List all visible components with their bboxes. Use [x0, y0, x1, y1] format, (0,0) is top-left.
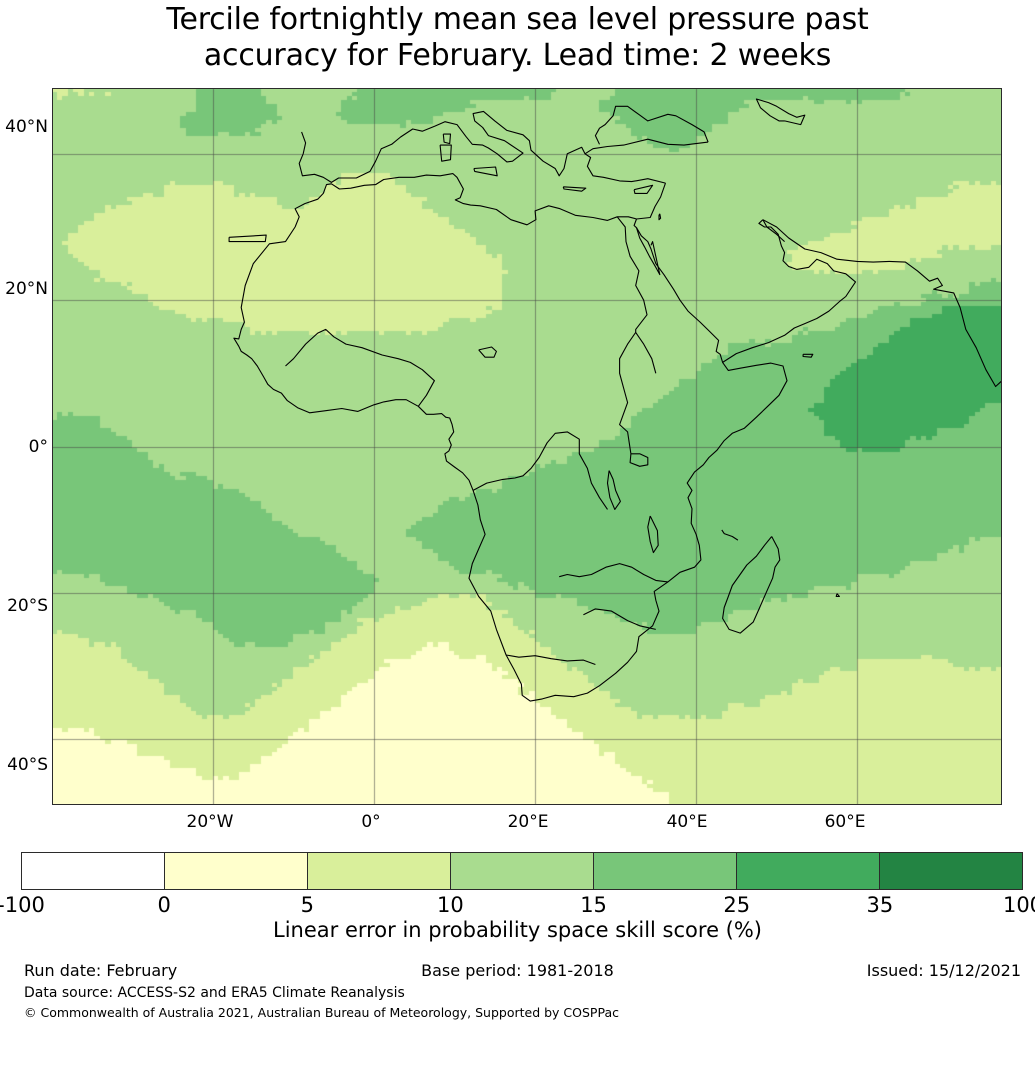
coastline — [229, 235, 266, 242]
coastline — [506, 655, 595, 665]
lat-tick-label: 40°N — [0, 117, 48, 137]
coastline — [295, 174, 665, 227]
lat-tick-label: 40°S — [0, 755, 48, 775]
colorbar-segment — [308, 853, 451, 889]
coastline — [722, 530, 738, 540]
coastline — [637, 228, 660, 275]
coastline — [583, 609, 655, 630]
coastline — [595, 106, 708, 144]
coastline — [473, 432, 607, 510]
coastline — [803, 354, 813, 357]
lat-tick-label: 20°S — [0, 596, 48, 616]
page-title: Tercile fortnightly mean sea level press… — [0, 2, 1035, 74]
colorbar-title: Linear error in probability space skill … — [0, 918, 1035, 942]
colorbar-tick-label: 5 — [301, 893, 314, 917]
map-overlay — [52, 88, 1002, 805]
footer-row-primary: Run date: February Base period: 1981-201… — [0, 961, 1035, 981]
coastline — [617, 217, 656, 373]
lon-tick-label: 60°E — [825, 812, 866, 832]
colorbar-tick-label: -100 — [0, 893, 45, 917]
colorbar-segment — [165, 853, 308, 889]
coastline — [836, 594, 839, 597]
colorbar-segment — [880, 853, 1022, 889]
lat-tick-label: 0° — [0, 437, 48, 457]
map-plot-area — [52, 88, 1002, 805]
coastline — [630, 454, 648, 467]
coastline — [723, 220, 856, 363]
coastline — [286, 329, 435, 406]
coastline — [474, 167, 497, 176]
coastline — [585, 154, 666, 183]
issued-date-label: Issued: 15/12/2021 — [867, 961, 1021, 980]
coastline — [479, 347, 497, 357]
colorbar-tick-label: 35 — [866, 893, 893, 917]
coastline — [608, 471, 621, 510]
colorbar-tick-label: 15 — [580, 893, 607, 917]
colorbar-tick-label: 100 — [1003, 893, 1035, 917]
colorbar-segment — [451, 853, 594, 889]
coastline — [563, 187, 586, 191]
coastline — [634, 185, 653, 193]
lon-tick-label: 20°W — [187, 812, 234, 832]
copyright-label: © Commonwealth of Australia 2021, Austra… — [24, 1005, 619, 1020]
coastline — [299, 111, 708, 182]
colorbar-segment — [737, 853, 880, 889]
coastline — [763, 220, 1002, 387]
title-line-2: accuracy for February. Lead time: 2 week… — [0, 38, 1035, 74]
title-line-1: Tercile fortnightly mean sea level press… — [0, 2, 1035, 38]
colorbar-segment — [22, 853, 165, 889]
lon-tick-label: 20°E — [508, 812, 549, 832]
lon-tick-label: 0° — [361, 812, 380, 832]
data-source-label: Data source: ACCESS-S2 and ERA5 Climate … — [24, 985, 405, 1001]
coastline — [620, 332, 636, 453]
coastline — [723, 537, 780, 634]
colorbar — [21, 852, 1023, 890]
coastline — [234, 219, 787, 701]
coastline — [648, 516, 658, 553]
colorbar-tick-label: 25 — [723, 893, 750, 917]
coastline — [756, 99, 804, 125]
coastline — [559, 564, 668, 582]
coastline — [440, 145, 451, 161]
colorbar-tick-label: 10 — [437, 893, 464, 917]
lat-tick-label: 20°N — [0, 279, 48, 299]
coastline — [443, 134, 450, 144]
lon-tick-label: 40°E — [667, 812, 708, 832]
colorbar-tick-label: 0 — [157, 893, 170, 917]
coastline — [659, 214, 661, 220]
colorbar-segment — [594, 853, 737, 889]
